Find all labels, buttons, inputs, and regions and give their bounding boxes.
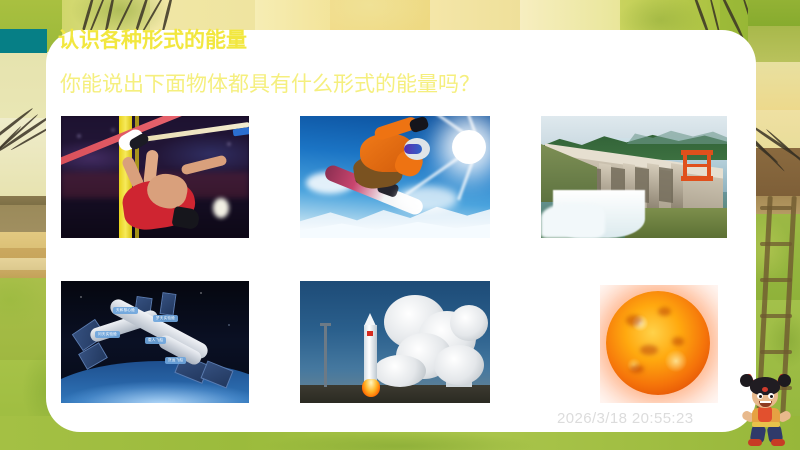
nezha-mascot-icon — [738, 372, 796, 446]
lightning-tower — [324, 323, 327, 387]
photo-snowboarder[interactable] — [300, 116, 490, 238]
sun-disc — [606, 291, 710, 395]
module-label: 天和核心舱 — [113, 307, 138, 314]
photo-space-station[interactable]: 天和核心舱 问天实验舱 梦天实验舱 载人飞船 货运飞船 — [61, 281, 249, 403]
sun-granulation — [658, 307, 671, 316]
sun-granulation — [640, 345, 658, 355]
sun-granulation — [672, 337, 684, 346]
module-label: 货运飞船 — [165, 357, 186, 364]
smoke-plume — [434, 345, 484, 385]
launch-site-ground — [300, 385, 490, 403]
photo-pole-vault[interactable] — [61, 116, 249, 238]
smoke-plume — [374, 355, 426, 387]
spillway-foam — [541, 204, 605, 238]
gantry-crane-icon — [681, 150, 715, 184]
sun-glare — [452, 130, 486, 164]
module-label: 载人飞船 — [145, 337, 166, 344]
photo-sun[interactable] — [600, 285, 718, 403]
flag-marking-icon — [367, 331, 373, 336]
page-subtitle: 你能说出下面物体都具有什么形式的能量吗？ — [60, 72, 580, 98]
module-label: 梦天实验舱 — [153, 315, 178, 322]
sun-granulation — [630, 365, 644, 373]
engine-flame — [362, 379, 380, 397]
smoke-plume — [450, 305, 488, 341]
sun-granulation — [626, 315, 642, 326]
title-accent-bar — [0, 29, 47, 53]
module-label: 问天实验舱 — [95, 331, 120, 338]
snow-spray — [396, 186, 458, 212]
rider-goggles — [404, 144, 422, 154]
stadium-floodlight — [213, 198, 229, 218]
photo-rocket-launch[interactable] — [300, 281, 490, 403]
slide-root: 认识各种形式的能量 你能说出下面物体都具有什么形式的能量吗？ — [0, 0, 800, 450]
page-title: 认识各种形式的能量 — [58, 28, 388, 54]
spillway-gate — [659, 167, 673, 203]
photo-hydro-dam[interactable] — [541, 116, 727, 238]
timestamp: 2026/3/18 20:55:23 — [557, 410, 694, 427]
